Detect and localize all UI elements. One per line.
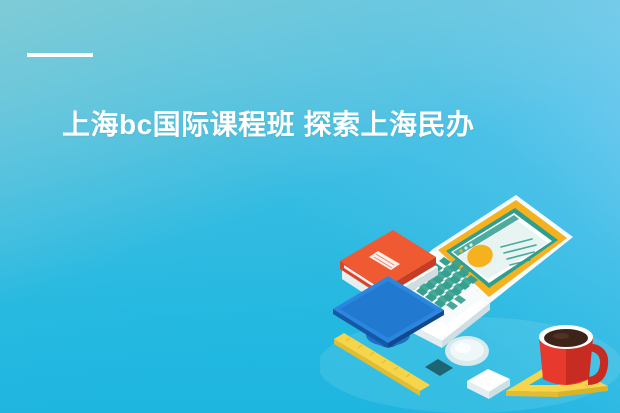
- study-desk-illustration: [320, 173, 620, 413]
- coffee-mug-icon: [539, 325, 608, 385]
- promo-banner: 上海bc国际课程班 探索上海民办: [0, 0, 620, 413]
- banner-title: 上海bc国际课程班 探索上海民办: [62, 103, 582, 143]
- accent-rule: [27, 53, 93, 57]
